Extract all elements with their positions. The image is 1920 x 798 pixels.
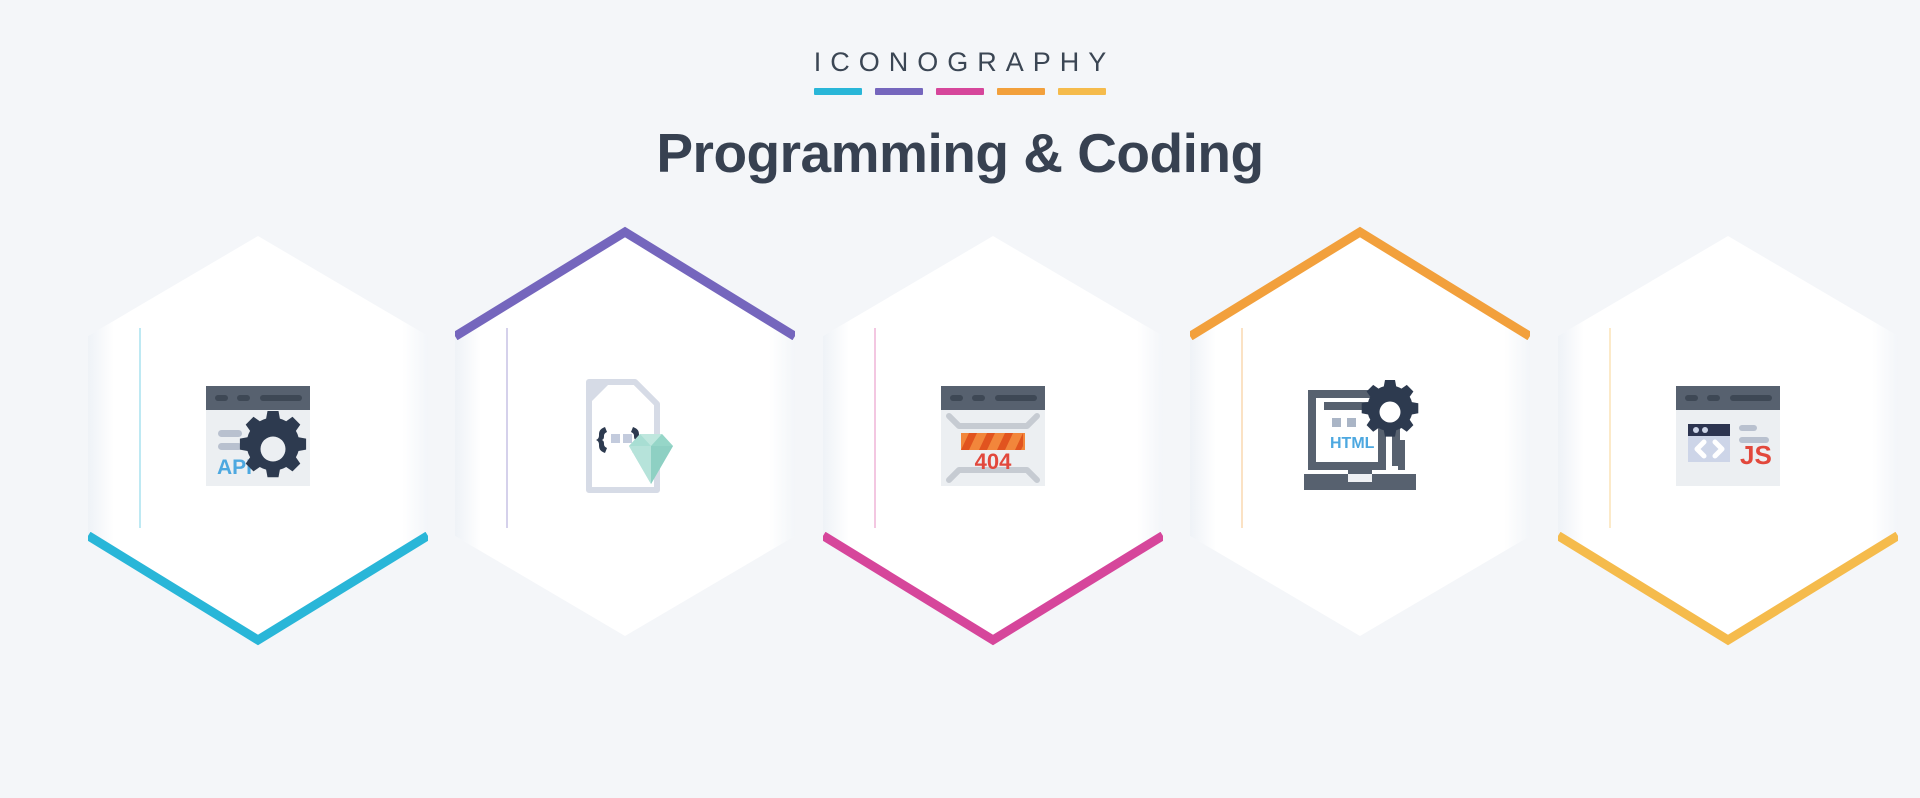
hex-accent-tick <box>506 328 508 528</box>
api-label: API <box>217 456 252 479</box>
hexagon-row: API <box>0 236 1920 656</box>
laptop-html-gear-icon: HTML <box>1294 370 1426 502</box>
error-code-label: 404 <box>975 449 1012 474</box>
code-file-gem-icon <box>559 370 691 502</box>
hex-card-error-404[interactable]: 404 <box>823 236 1163 636</box>
hex-card-api-settings[interactable]: API <box>88 236 428 636</box>
hex-chevron-bottom <box>1558 532 1898 648</box>
hex-card-javascript[interactable]: JS <box>1558 236 1898 636</box>
html-label: HTML <box>1330 435 1375 452</box>
js-label: JS <box>1740 440 1772 470</box>
hex-chevron-bottom <box>88 532 428 648</box>
api-browser-gear-icon: API <box>192 370 324 502</box>
hex-chevron-top <box>455 224 795 340</box>
icon-pack-poster: ICONOGRAPHY Programming & Coding <box>0 0 1920 798</box>
browser-js-code-icon: JS <box>1662 370 1794 502</box>
browser-404-error-icon: 404 <box>927 370 1059 502</box>
color-rule-row <box>0 88 1920 95</box>
hex-card-ruby-code-file[interactable] <box>455 236 795 636</box>
hex-accent-tick <box>1609 328 1611 528</box>
rule-amber <box>1058 88 1106 95</box>
hex-card-html-development[interactable]: HTML <box>1190 236 1530 636</box>
hex-accent-tick <box>1241 328 1243 528</box>
hex-accent-tick <box>874 328 876 528</box>
rule-orange <box>997 88 1045 95</box>
page-eyebrow: ICONOGRAPHY <box>0 48 1920 76</box>
rule-pink <box>936 88 984 95</box>
page-title: Programming & Coding <box>0 121 1920 185</box>
hex-chevron-bottom <box>823 532 1163 648</box>
rule-purple <box>875 88 923 95</box>
hex-accent-tick <box>139 328 141 528</box>
hex-chevron-top <box>1190 224 1530 340</box>
rule-cyan <box>814 88 862 95</box>
poster-header: ICONOGRAPHY Programming & Coding <box>0 48 1920 185</box>
